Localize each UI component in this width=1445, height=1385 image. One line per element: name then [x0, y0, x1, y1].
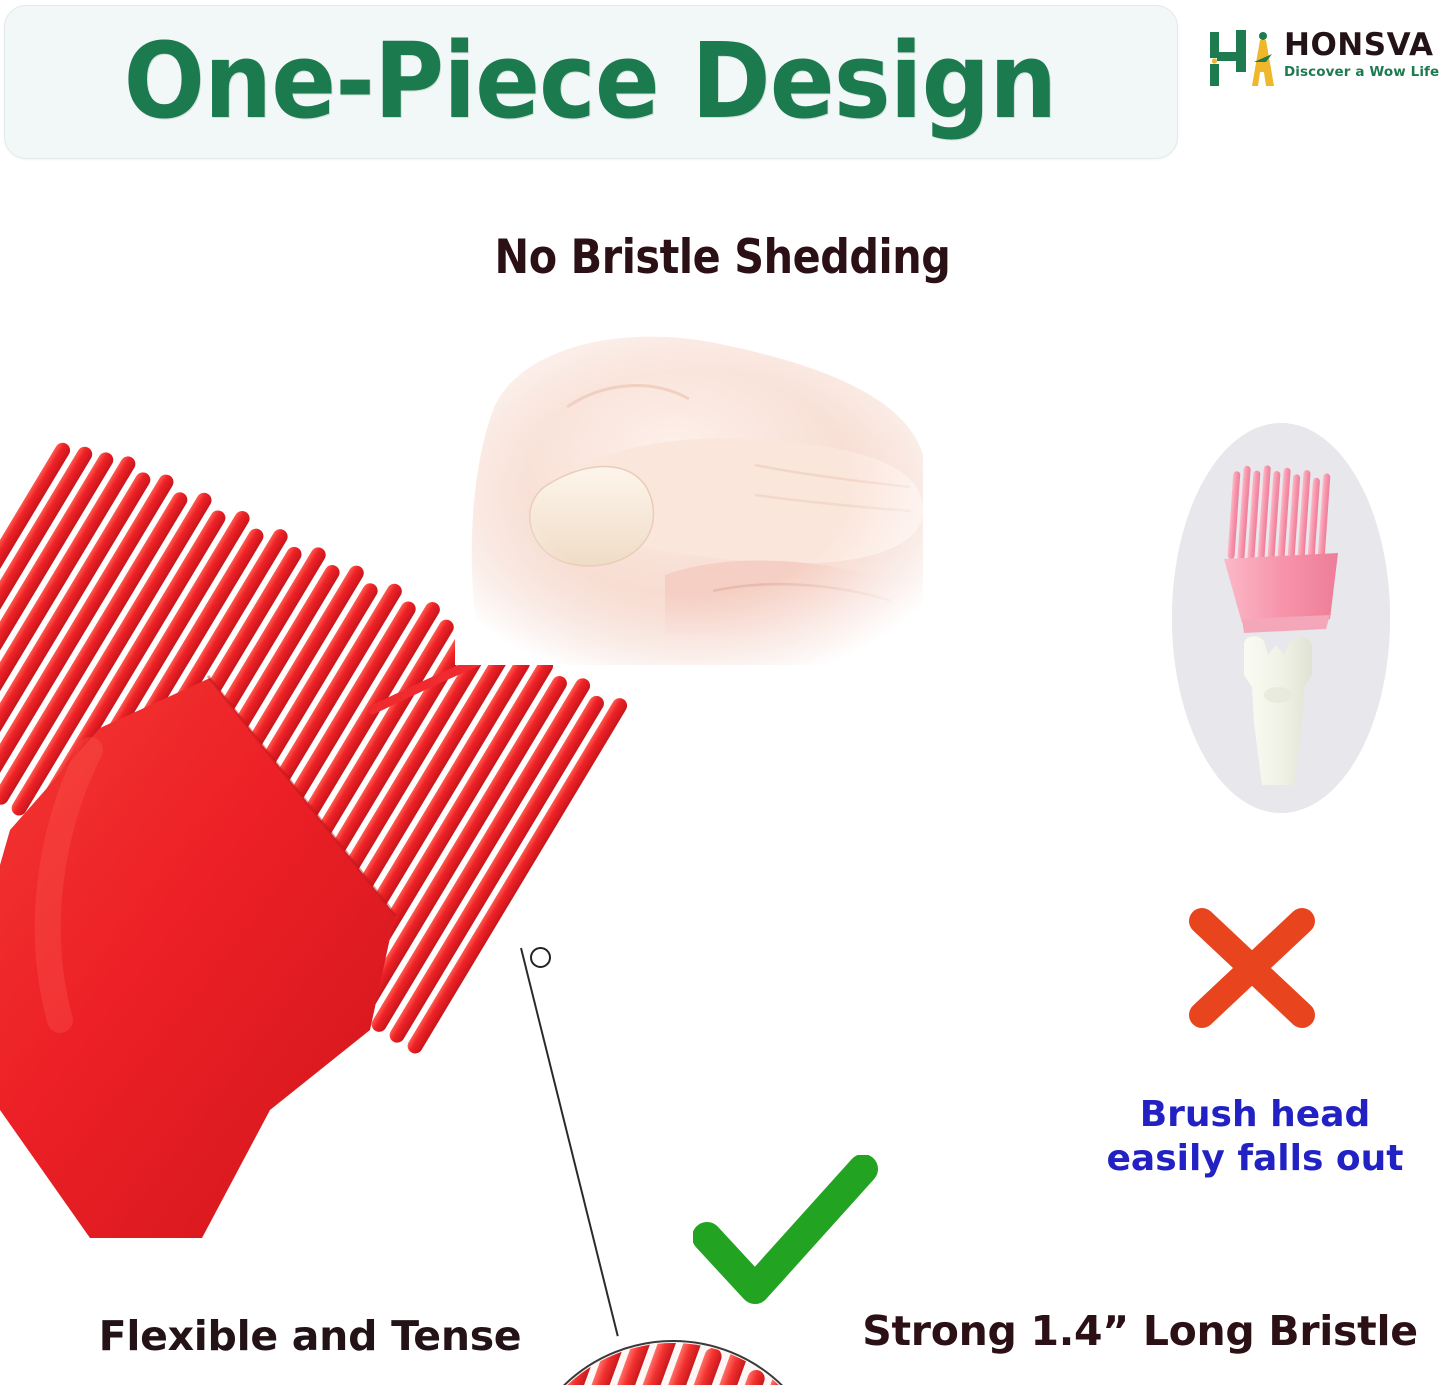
competitor-caption-line1: Brush head: [1065, 1093, 1445, 1137]
cross-mark-icon: [1182, 903, 1322, 1033]
competitor-caption: Brush head easily falls out: [1065, 1093, 1445, 1181]
logo-tagline: Discover a Wow Life: [1284, 66, 1440, 80]
main-product-photo: [0, 300, 1020, 1310]
logo-brand-name: HONSVA: [1284, 30, 1440, 61]
brand-logo: HONSVA Discover a Wow Life: [1206, 28, 1438, 94]
page-title: One-Piece Design: [51, 5, 1129, 157]
callout-marker-icon: [530, 947, 551, 968]
competitor-caption-line2: easily falls out: [1065, 1137, 1445, 1181]
logo-text: HONSVA Discover a Wow Life: [1284, 30, 1440, 80]
logo-monogram-icon: [1206, 28, 1286, 90]
check-mark-icon: [693, 1155, 878, 1305]
caption-flexible-and-tense: Flexible and Tense: [30, 1316, 590, 1357]
section-subtitle: No Bristle Shedding: [87, 234, 1359, 281]
competitor-product-photo: [1172, 423, 1390, 813]
hand-photo: [455, 335, 925, 665]
infographic-canvas: One-Piece Design HONSVA Discover a Wow L…: [0, 0, 1445, 1385]
caption-strong-long-bristle: Strong 1.4” Long Bristle: [860, 1311, 1420, 1352]
